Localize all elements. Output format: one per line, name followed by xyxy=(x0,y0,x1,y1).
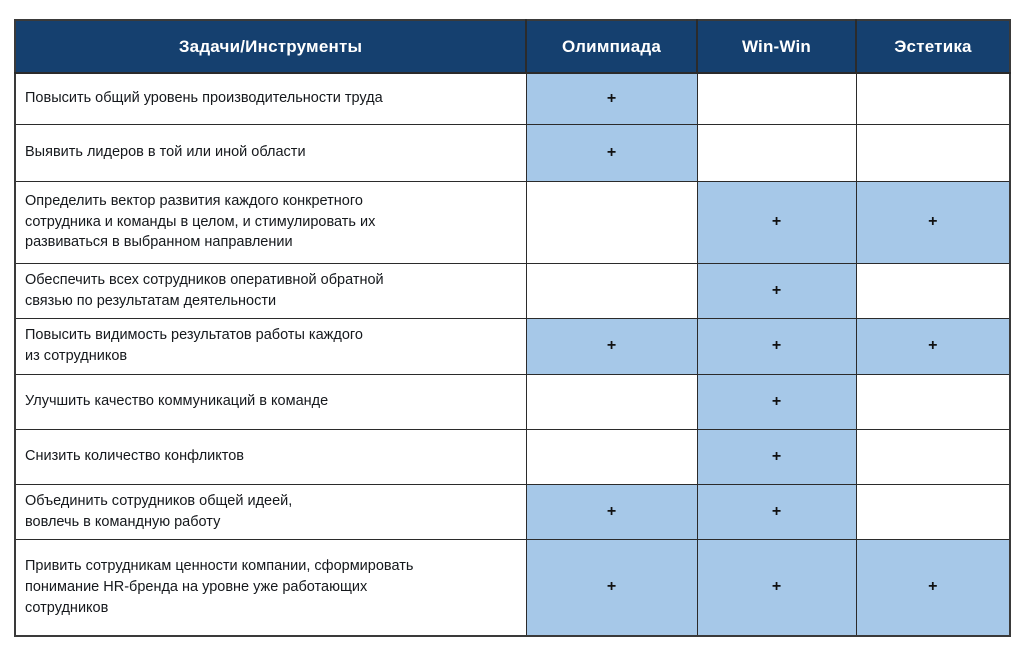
mark-cell-checked: + xyxy=(526,73,697,124)
mark-cell-checked: + xyxy=(526,484,697,539)
mark-cell-empty xyxy=(526,181,697,263)
task-cell: Объединить сотрудников общей идеей, вовл… xyxy=(15,484,526,539)
mark-cell-checked: + xyxy=(697,263,856,318)
table-row: Улучшить качество коммуникаций в команде… xyxy=(15,374,1010,429)
mark-cell-checked: + xyxy=(697,374,856,429)
mark-cell-checked: + xyxy=(697,429,856,484)
column-header-task: Задачи/Инструменты xyxy=(15,20,526,73)
tasks-tools-table: Задачи/Инструменты Олимпиада Win-Win Эст… xyxy=(14,19,1011,637)
mark-cell-checked: + xyxy=(526,539,697,636)
task-cell: Снизить количество конфликтов xyxy=(15,429,526,484)
task-cell: Улучшить качество коммуникаций в команде xyxy=(15,374,526,429)
table-row: Обеспечить всех сотрудников оперативной … xyxy=(15,263,1010,318)
mark-cell-empty xyxy=(856,73,1010,124)
mark-cell-checked: + xyxy=(856,181,1010,263)
mark-cell-empty xyxy=(526,429,697,484)
mark-cell-checked: + xyxy=(697,484,856,539)
mark-cell-empty xyxy=(856,374,1010,429)
task-cell: Выявить лидеров в той или иной области xyxy=(15,124,526,181)
task-cell: Повысить общий уровень производительност… xyxy=(15,73,526,124)
table-header: Задачи/Инструменты Олимпиада Win-Win Эст… xyxy=(15,20,1010,73)
mark-cell-empty xyxy=(856,263,1010,318)
mark-cell-checked: + xyxy=(697,539,856,636)
mark-cell-empty xyxy=(856,484,1010,539)
task-cell: Обеспечить всех сотрудников оперативной … xyxy=(15,263,526,318)
mark-cell-checked: + xyxy=(697,181,856,263)
header-row: Задачи/Инструменты Олимпиада Win-Win Эст… xyxy=(15,20,1010,73)
column-header-winwin: Win-Win xyxy=(697,20,856,73)
mark-cell-empty xyxy=(856,124,1010,181)
table-row: Выявить лидеров в той или иной области+ xyxy=(15,124,1010,181)
comparison-matrix: Задачи/Инструменты Олимпиада Win-Win Эст… xyxy=(14,19,1009,637)
table-row: Определить вектор развития каждого конкр… xyxy=(15,181,1010,263)
task-cell: Повысить видимость результатов работы ка… xyxy=(15,318,526,374)
table-row: Повысить видимость результатов работы ка… xyxy=(15,318,1010,374)
table-body: Повысить общий уровень производительност… xyxy=(15,73,1010,636)
mark-cell-checked: + xyxy=(856,539,1010,636)
mark-cell-empty xyxy=(697,124,856,181)
column-header-aesthetics: Эстетика xyxy=(856,20,1010,73)
mark-cell-empty xyxy=(856,429,1010,484)
column-header-olympiad: Олимпиада xyxy=(526,20,697,73)
task-cell: Определить вектор развития каждого конкр… xyxy=(15,181,526,263)
mark-cell-empty xyxy=(526,374,697,429)
table-row: Снизить количество конфликтов+ xyxy=(15,429,1010,484)
task-cell: Привить сотрудникам ценности компании, с… xyxy=(15,539,526,636)
mark-cell-checked: + xyxy=(526,124,697,181)
mark-cell-empty xyxy=(526,263,697,318)
mark-cell-checked: + xyxy=(526,318,697,374)
table-row: Привить сотрудникам ценности компании, с… xyxy=(15,539,1010,636)
table-row: Объединить сотрудников общей идеей, вовл… xyxy=(15,484,1010,539)
mark-cell-checked: + xyxy=(697,318,856,374)
mark-cell-checked: + xyxy=(856,318,1010,374)
mark-cell-empty xyxy=(697,73,856,124)
table-row: Повысить общий уровень производительност… xyxy=(15,73,1010,124)
